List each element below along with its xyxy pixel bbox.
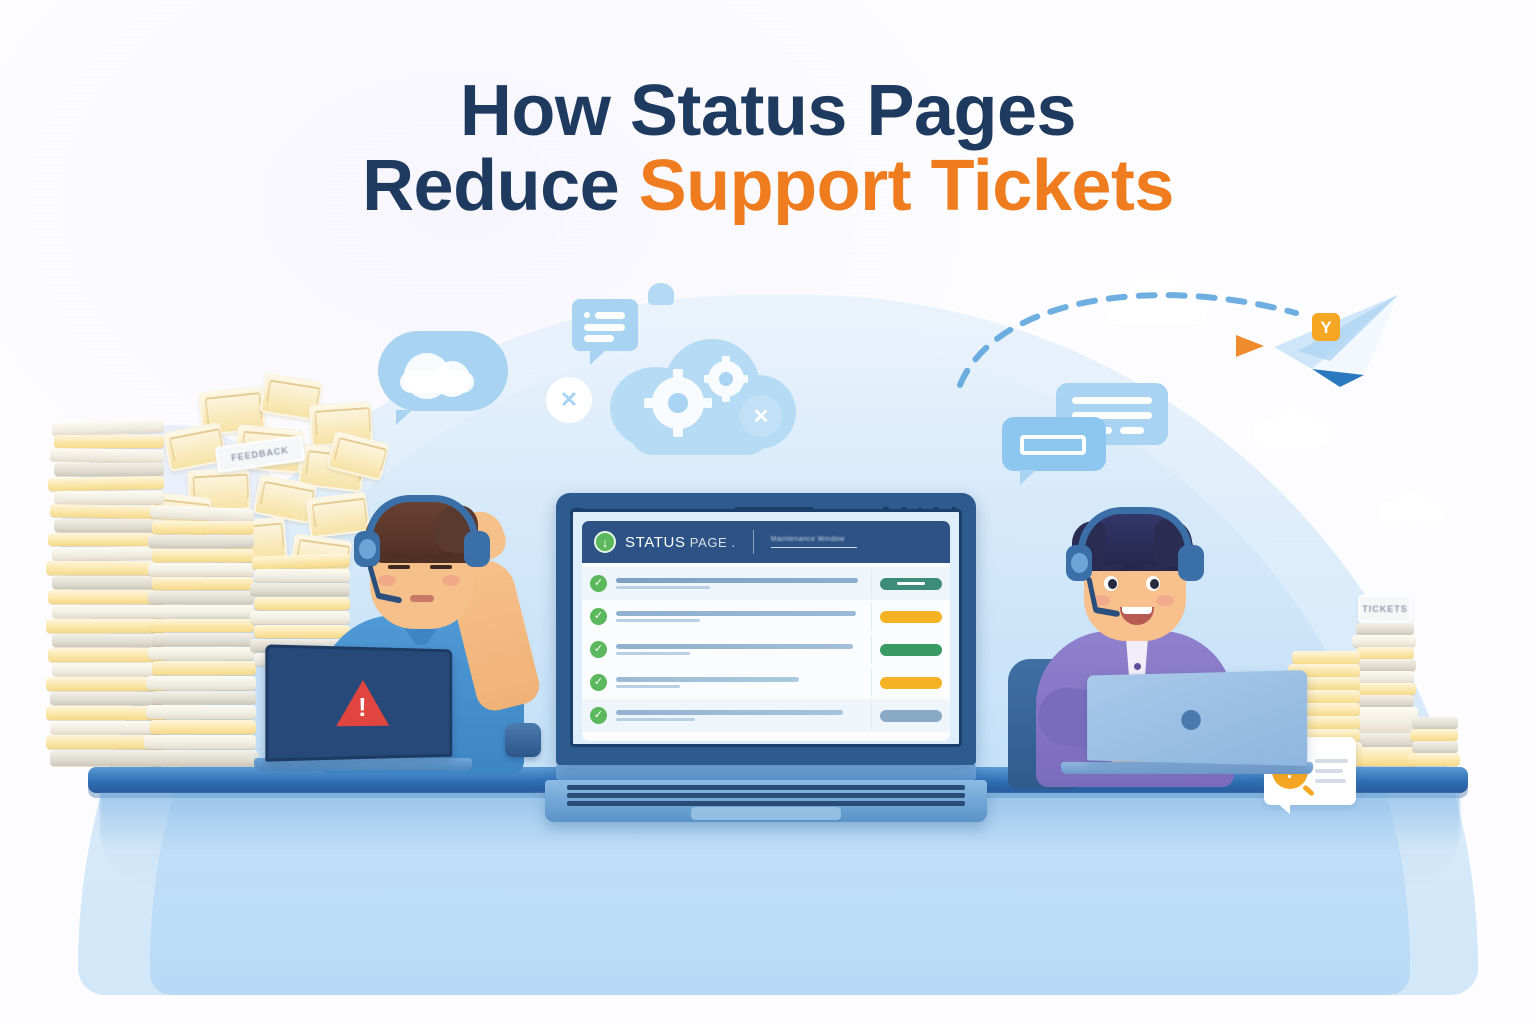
- ticket-label-right: TICKETS: [1358, 595, 1412, 623]
- page-title: How Status Pages Reduce Support Tickets: [0, 74, 1536, 224]
- warning-triangle-icon: [336, 680, 389, 727]
- sparkle-icon: [648, 283, 674, 305]
- status-page-meta-text: Maintenance Window: [771, 536, 845, 543]
- faq-line: [1315, 759, 1348, 763]
- mouse-device: [505, 723, 541, 757]
- scene: ✕ ✕: [0, 255, 1536, 875]
- plane-badge-icon: Y: [1312, 313, 1340, 341]
- check-circle-icon: ✓: [590, 707, 607, 724]
- check-circle-icon: ✓: [590, 674, 607, 691]
- headset-band-icon: [1078, 507, 1192, 551]
- title-line-1: How Status Pages: [0, 74, 1536, 149]
- table-row[interactable]: ✓: [582, 600, 950, 633]
- check-circle-icon: ✓: [590, 608, 607, 625]
- left-laptop: [268, 647, 458, 771]
- laptop-logo-icon: [1181, 710, 1200, 730]
- faq-line: [1315, 769, 1343, 773]
- headset-earcup-icon: [354, 531, 380, 567]
- status-badge: [880, 677, 942, 689]
- table-row[interactable]: ✓: [582, 633, 950, 666]
- status-page-laptop: ↓ STATUS PAGE . Maintenance Window ✓: [556, 493, 976, 822]
- status-page-brand-light: PAGE .: [690, 535, 736, 550]
- cloud-speech-bubble-icon: [378, 331, 508, 423]
- title-line-2-plain: Reduce: [362, 146, 639, 226]
- chat-bubbles-icon: [1002, 383, 1180, 479]
- status-page-brand: STATUS PAGE .: [625, 534, 736, 551]
- status-page-header: ↓ STATUS PAGE . Maintenance Window: [582, 521, 950, 563]
- paper-plane-icon: Y: [1268, 291, 1408, 391]
- mini-plane-icon: [1236, 335, 1264, 357]
- status-page-meta: Maintenance Window: [771, 536, 857, 549]
- headset-band-icon: [366, 495, 478, 539]
- gear-cloud-icon: ✕: [610, 331, 810, 461]
- status-badge: [880, 644, 942, 656]
- table-row[interactable]: ✓: [582, 666, 950, 699]
- faq-line: [1315, 779, 1346, 783]
- title-line-2-accent: Support Tickets: [639, 146, 1174, 226]
- right-laptop-screen: [1087, 670, 1307, 766]
- status-page-meta-rule: [771, 547, 857, 549]
- status-down-arrow-icon: ↓: [594, 531, 616, 553]
- laptop-keyboard: [545, 780, 987, 822]
- laptop-hinge: [556, 764, 976, 780]
- status-badge: [880, 578, 942, 590]
- illustration-canvas: How Status Pages Reduce Support Tickets …: [0, 0, 1536, 1024]
- check-circle-icon: ✓: [590, 641, 607, 658]
- close-x-icon: ✕: [546, 377, 592, 423]
- check-circle-icon: ✓: [590, 575, 607, 592]
- table-row[interactable]: ✓: [582, 699, 950, 732]
- white-cloud-icon-far: [1378, 491, 1450, 525]
- status-page-rows: ✓ ✓: [582, 563, 950, 741]
- title-line-2: Reduce Support Tickets: [0, 149, 1536, 224]
- header-divider: [753, 530, 754, 554]
- laptop-lid: ↓ STATUS PAGE . Maintenance Window ✓: [556, 493, 976, 765]
- status-badge: [880, 611, 942, 623]
- white-cloud-icon-small: [1252, 407, 1338, 447]
- right-laptop: [1078, 673, 1303, 774]
- status-badge: [880, 710, 942, 722]
- gear-icon: [610, 331, 810, 461]
- laptop-trackpad: [691, 807, 841, 820]
- close-x-icon-secondary: ✕: [740, 395, 782, 437]
- laptop-screen: ↓ STATUS PAGE . Maintenance Window ✓: [570, 509, 962, 747]
- headset-earcup-icon: [1066, 545, 1092, 581]
- table-row[interactable]: ✓: [582, 567, 950, 600]
- left-laptop-screen: [265, 644, 452, 761]
